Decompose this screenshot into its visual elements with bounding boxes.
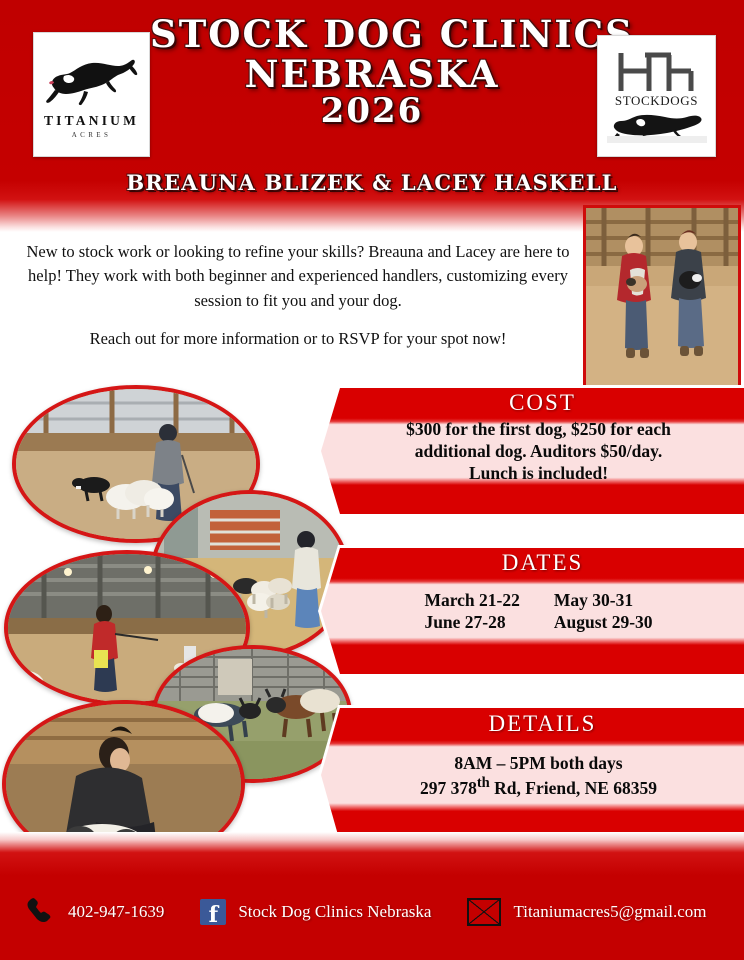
header-banner: TITANIUM ACRES STOCK DOG CLINICS NEBRASK… <box>0 0 744 232</box>
details-body: 8AM – 5PM both days 297 378th Rd, Friend… <box>321 747 744 803</box>
details-time: 8AM – 5PM both days <box>454 752 622 774</box>
facebook-icon: f <box>200 899 226 925</box>
envelope-icon <box>467 898 501 926</box>
border-collie-silhouette-icon <box>607 109 707 143</box>
cost-line-2: additional dog. Auditors $50/day. <box>415 440 663 462</box>
dates-body: March 21-22 May 30-31 June 27-28 August … <box>321 585 744 638</box>
email-address: Titaniumacres5@gmail.com <box>513 902 706 922</box>
titanium-acres-subname: ACRES <box>72 131 112 139</box>
address-number: 297 378 <box>420 777 477 797</box>
contact-email[interactable]: Titaniumacres5@gmail.com <box>467 898 706 926</box>
hnh-stockdogs-logo: STOCKDOGS <box>597 35 716 157</box>
cost-body: $300 for the first dog, $250 for each ad… <box>321 425 744 478</box>
date-item-3: June 27-28 <box>424 611 519 633</box>
dates-heading: DATES <box>321 548 744 578</box>
photo-handlers-with-puppies <box>583 205 741 391</box>
address-ordinal: th <box>477 775 490 791</box>
title-line-1: STOCK DOG CLINICS <box>150 16 594 54</box>
dates-banner: DATES March 21-22 May 30-31 June 27-28 A… <box>318 545 744 677</box>
facebook-page-name: Stock Dog Clinics Nebraska <box>238 902 431 922</box>
date-item-1: March 21-22 <box>424 589 519 611</box>
cost-line-3: Lunch is included! <box>469 462 608 484</box>
titanium-acres-name: TITANIUM <box>44 113 139 129</box>
facebook-glyph: f <box>209 904 218 926</box>
flyer-page: TITANIUM ACRES STOCK DOG CLINICS NEBRASK… <box>0 0 744 960</box>
contact-phone[interactable]: 402-947-1639 <box>24 897 164 927</box>
presenters-line: BREAUNA BLIZEK & LACEY HASKELL <box>0 170 744 195</box>
phone-icon <box>24 897 54 927</box>
footer-bar: 402-947-1639 f Stock Dog Clinics Nebrask… <box>0 832 744 960</box>
phone-number: 402-947-1639 <box>68 902 164 922</box>
stockdogs-name: STOCKDOGS <box>615 93 698 109</box>
photo-illustration <box>586 208 738 388</box>
address-rest: Rd, Friend, NE 68359 <box>490 777 657 797</box>
contact-facebook[interactable]: f Stock Dog Clinics Nebraska <box>200 899 431 925</box>
intro-paragraph-1: New to stock work or looking to refine y… <box>18 240 578 313</box>
titanium-acres-logo: TITANIUM ACRES <box>33 32 150 157</box>
details-address: 297 378th Rd, Friend, NE 68359 <box>420 774 657 799</box>
date-item-4: August 29-30 <box>554 611 653 633</box>
cost-line-1: $300 for the first dog, $250 for each <box>406 418 671 440</box>
intro-text: New to stock work or looking to refine y… <box>18 240 578 352</box>
cost-banner: COST $300 for the first dog, $250 for ea… <box>318 385 744 517</box>
intro-paragraph-2: Reach out for more information or to RSV… <box>18 327 578 351</box>
border-collie-silhouette-icon <box>44 50 140 112</box>
cost-heading: COST <box>321 388 744 418</box>
title-line-3: 2026 <box>150 94 594 129</box>
title-line-2: NEBRASKA <box>150 56 594 94</box>
details-banner: DETAILS 8AM – 5PM both days 297 378th Rd… <box>318 705 744 845</box>
date-item-2: May 30-31 <box>554 589 653 611</box>
details-heading: DETAILS <box>321 708 744 740</box>
flyer-title: STOCK DOG CLINICS NEBRASKA 2026 <box>150 16 594 129</box>
hnh-monogram-icon <box>611 49 703 95</box>
dates-grid: March 21-22 May 30-31 June 27-28 August … <box>424 589 652 633</box>
